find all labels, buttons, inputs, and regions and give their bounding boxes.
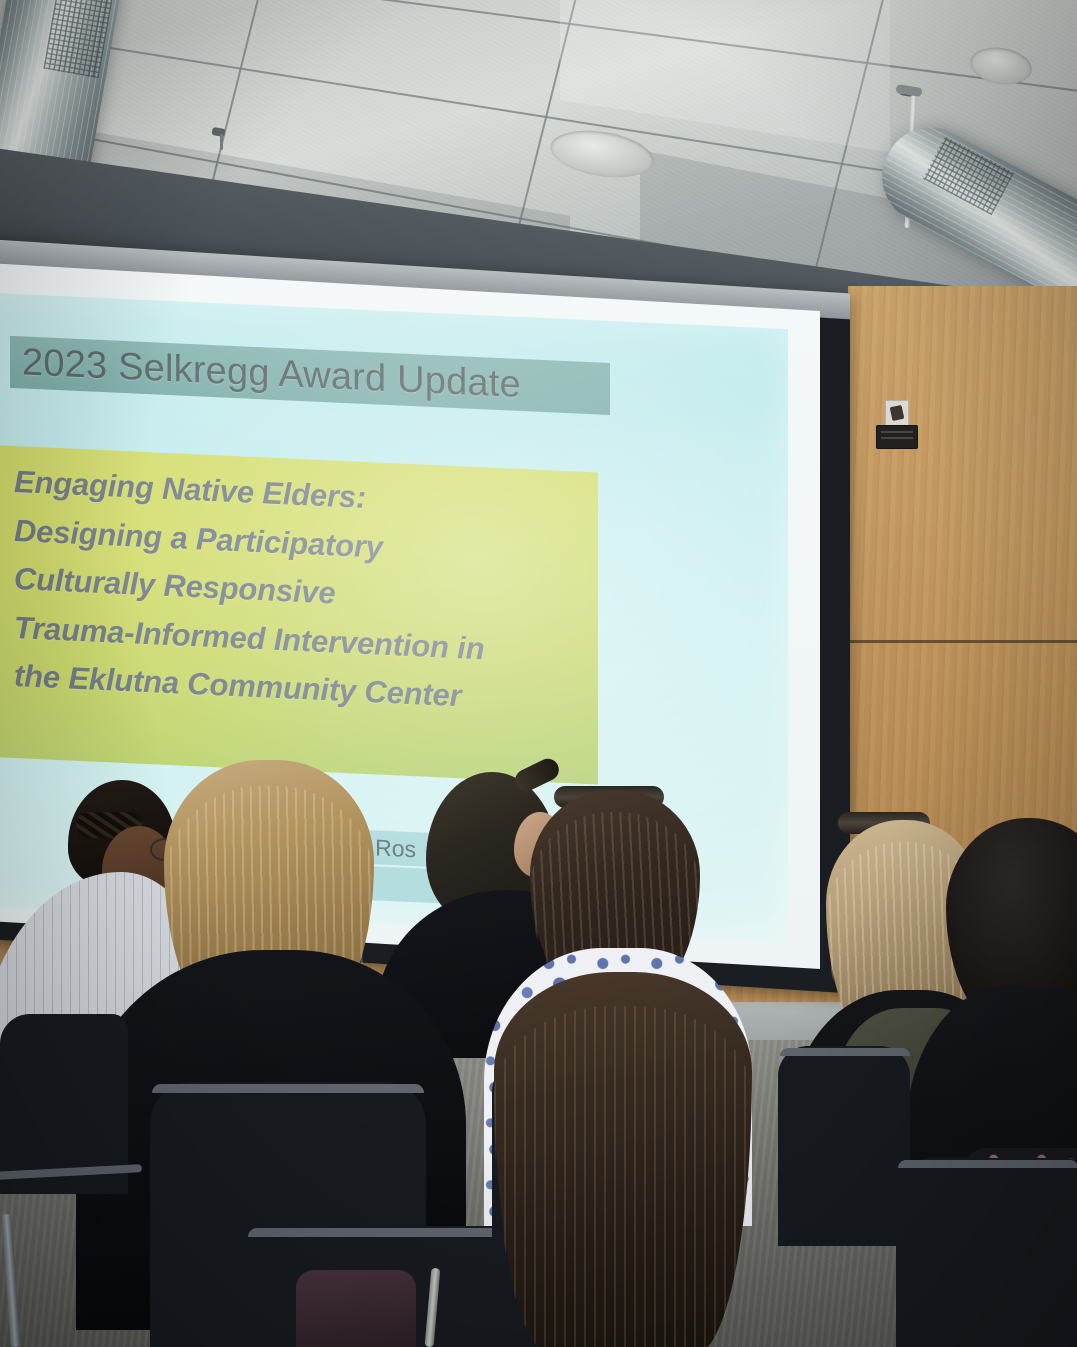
chair-far-right[interactable] xyxy=(896,1158,1077,1347)
slide-header-text: 2023 Selkregg Award Update xyxy=(22,341,521,407)
wall-control-panel[interactable] xyxy=(876,425,918,449)
attendee-5 xyxy=(440,972,820,1347)
attendee-5-hair-strands xyxy=(494,1006,752,1347)
slide-title-block: Engaging Native Elders: Designing a Part… xyxy=(0,444,598,785)
presentation-room-photo: 2023 Selkregg Award Update Engaging Nati… xyxy=(0,0,1077,1347)
wood-panel-seam xyxy=(848,640,1077,643)
sprinkler-stem-center xyxy=(220,134,223,150)
bag-under-chair xyxy=(296,1270,416,1347)
chair-front-left-trim xyxy=(152,1084,424,1093)
slide-header-banner: 2023 Selkregg Award Update xyxy=(10,336,610,415)
chair-far-right-trim xyxy=(898,1160,1077,1168)
